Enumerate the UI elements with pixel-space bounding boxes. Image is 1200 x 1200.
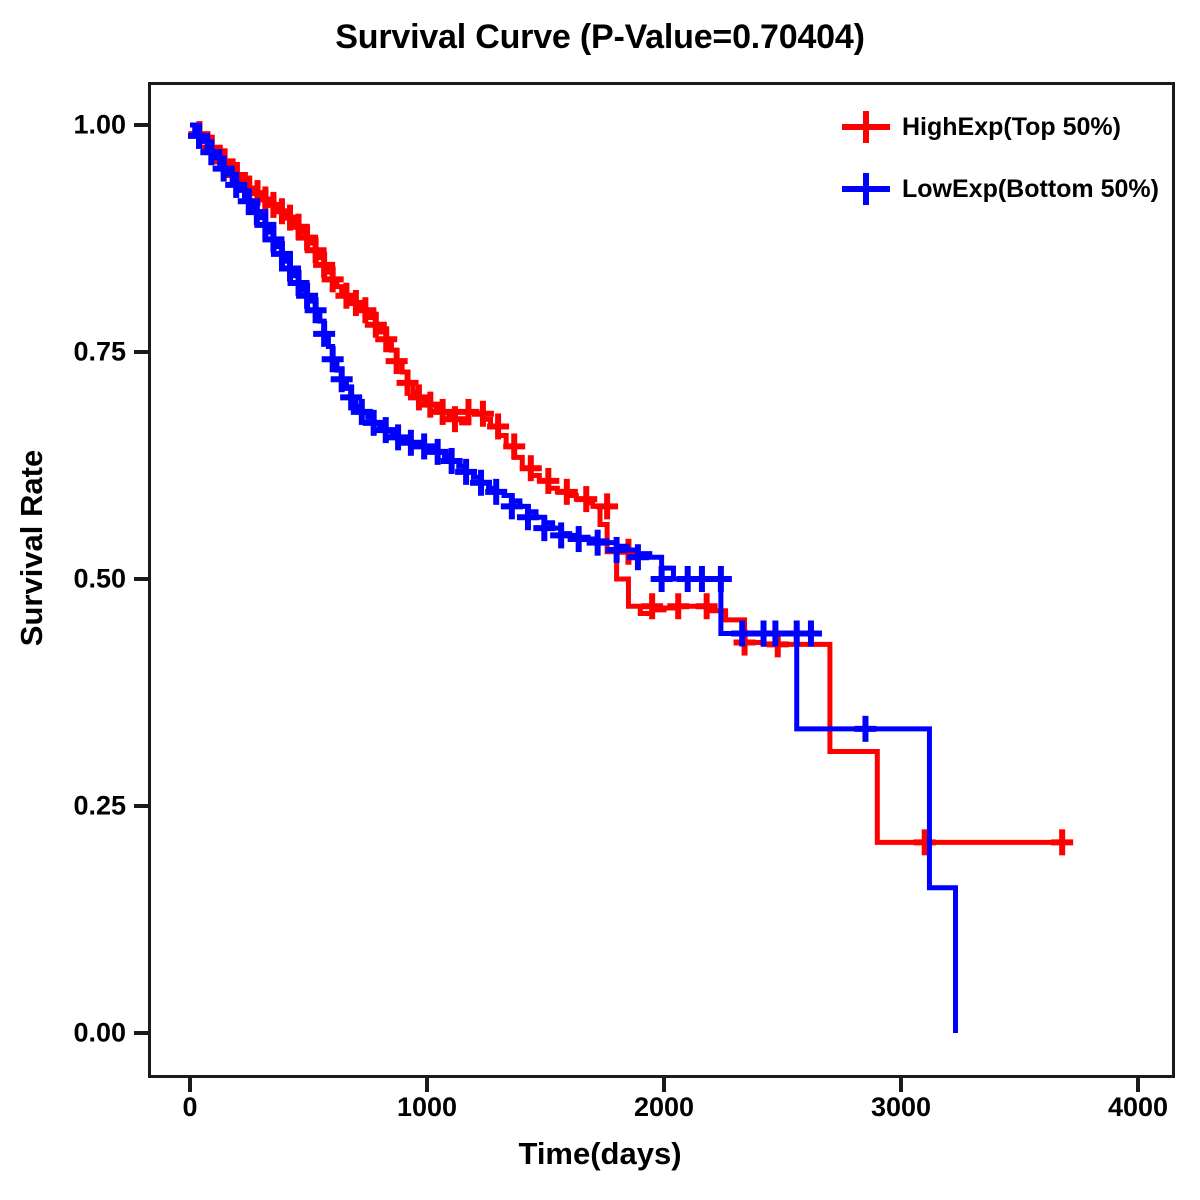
series-layer <box>188 121 1073 1033</box>
x-tick-label: 0 <box>120 1092 260 1123</box>
censor-marker <box>691 566 713 592</box>
x-axis-tick-labels: 01000200030004000 <box>0 1092 1200 1142</box>
series-high-exp <box>188 121 1073 855</box>
y-tick-label: 0.00 <box>38 1018 126 1049</box>
legend-label: HighExp(Top 50%) <box>902 113 1121 142</box>
censor-marker <box>568 526 590 552</box>
censor-marker <box>710 566 732 592</box>
y-tick-label: 0.50 <box>38 564 126 595</box>
plus-marker <box>838 107 894 147</box>
plus-marker <box>838 169 894 209</box>
x-axis-title: Time(days) <box>0 1136 1200 1172</box>
y-tick-label: 0.25 <box>38 791 126 822</box>
censor-marker <box>313 321 335 347</box>
x-tick-label: 3000 <box>831 1092 971 1123</box>
censor-marker <box>667 593 689 619</box>
censor-marker <box>914 829 936 855</box>
legend-label: LowExp(Bottom 50%) <box>902 175 1159 204</box>
censor-marker <box>400 430 422 456</box>
legend-item-high-exp[interactable]: HighExp(Top 50%) <box>838 104 1178 150</box>
censor-marker <box>696 593 718 619</box>
legend-item-low-exp[interactable]: LowExp(Bottom 50%) <box>838 166 1178 212</box>
series-low-exp <box>188 123 956 1033</box>
y-tick-label: 1.00 <box>38 110 126 141</box>
censor-marker <box>1051 829 1073 855</box>
y-axis-title: Survival Rate <box>14 398 50 698</box>
censor-marker <box>413 433 435 459</box>
y-tick-label: 0.75 <box>38 337 126 368</box>
censor-marker <box>854 716 876 742</box>
legend: HighExp(Top 50%)LowExp(Bottom 50%) <box>838 104 1178 228</box>
x-tick-label: 1000 <box>357 1092 497 1123</box>
x-tick-label: 4000 <box>1068 1092 1200 1123</box>
survival-curve-figure: Survival Curve (P-Value=0.70404) 0.000.2… <box>0 0 1200 1200</box>
x-tick-label: 2000 <box>594 1092 734 1123</box>
